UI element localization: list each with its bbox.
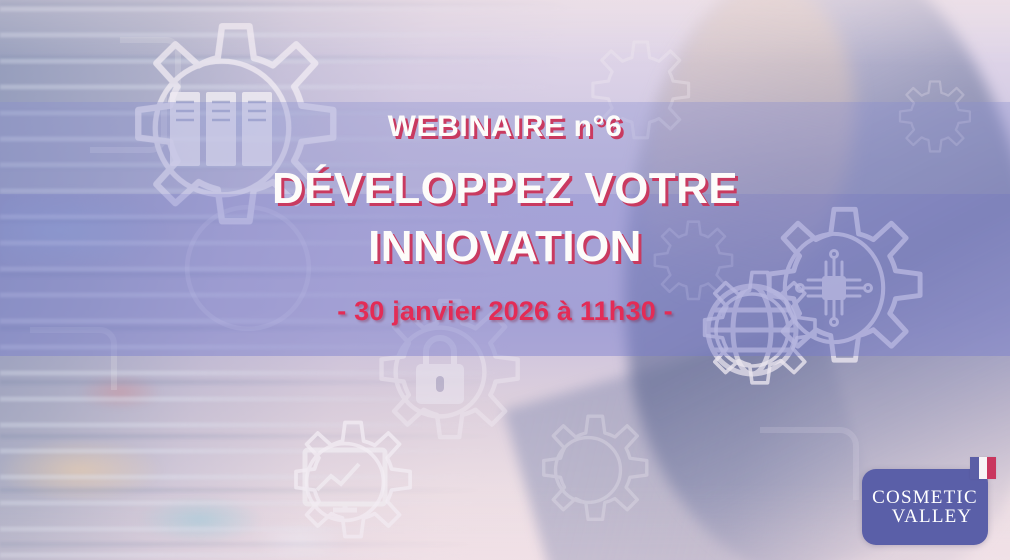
logo-name-bottom: VALLEY — [892, 507, 973, 526]
cosmetic-valley-logo[interactable]: COSMETIC VALLEY — [862, 469, 988, 545]
webinar-kicker: WEBINAIRE n°6 — [0, 112, 1010, 142]
logo-wordmark: COSMETIC VALLEY — [862, 469, 988, 545]
headline-block: WEBINAIRE n°6 DÉVELOPPEZ VOTRE INNOVATIO… — [0, 112, 1010, 325]
logo-name-top: COSMETIC — [872, 488, 978, 507]
webinar-banner: WEBINAIRE n°6 DÉVELOPPEZ VOTRE INNOVATIO… — [0, 0, 1010, 560]
event-date-time: - 30 janvier 2026 à 11h30 - — [0, 298, 1010, 325]
headline-line-2: INNOVATION — [0, 218, 1010, 276]
headline-title: DÉVELOPPEZ VOTRE INNOVATION — [0, 160, 1010, 276]
flag-band-red — [987, 457, 996, 479]
headline-line-1: DÉVELOPPEZ VOTRE — [272, 164, 738, 213]
